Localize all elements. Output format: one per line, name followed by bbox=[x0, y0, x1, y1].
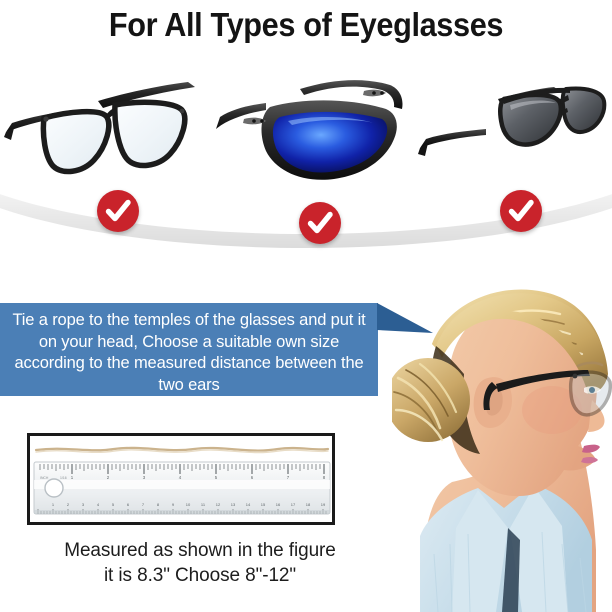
check-badge-aviator-sunglasses bbox=[500, 190, 542, 232]
infographic-page: For All Types of Eyeglasses bbox=[0, 0, 612, 612]
svg-text:19: 19 bbox=[321, 502, 326, 507]
svg-text:12: 12 bbox=[216, 502, 221, 507]
svg-text:16: 16 bbox=[276, 502, 281, 507]
check-icon bbox=[97, 190, 139, 232]
svg-text:1/16: 1/16 bbox=[60, 476, 67, 480]
check-icon bbox=[500, 190, 542, 232]
measurement-caption: Measured as shown in the figure it is 8.… bbox=[0, 538, 400, 588]
page-title: For All Types of Eyeglasses bbox=[21, 6, 590, 44]
instruction-text: Tie a rope to the temples of the glasses… bbox=[12, 311, 365, 394]
caption-line-2: it is 8.3" Choose 8"-12" bbox=[0, 563, 400, 588]
ruler-photo: 123 456 78 INCH1/16 bbox=[27, 433, 335, 525]
check-badge-eyeglasses bbox=[97, 190, 139, 232]
caption-line-1: Measured as shown in the figure bbox=[64, 540, 336, 561]
svg-text:15: 15 bbox=[261, 502, 266, 507]
svg-text:18: 18 bbox=[306, 502, 311, 507]
svg-text:INCH: INCH bbox=[40, 476, 49, 480]
instruction-callout: Tie a rope to the temples of the glasses… bbox=[0, 303, 378, 396]
check-badge-sport-sunglasses bbox=[299, 202, 341, 244]
svg-text:10: 10 bbox=[186, 502, 191, 507]
svg-text:14: 14 bbox=[246, 502, 251, 507]
svg-text:17: 17 bbox=[291, 502, 296, 507]
check-icon bbox=[299, 202, 341, 244]
svg-text:13: 13 bbox=[231, 502, 236, 507]
